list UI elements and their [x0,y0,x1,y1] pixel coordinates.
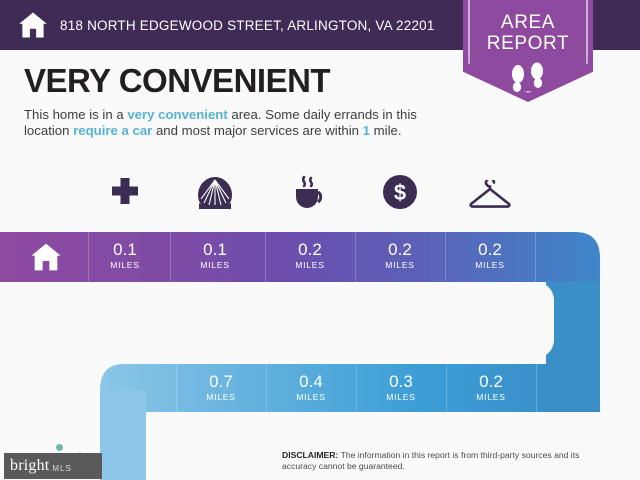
distance-value: 0.2 [445,240,535,259]
badge-title-line1: AREA [463,12,593,34]
distance-value: 0.3 [356,372,446,391]
distance-unit: MILES [266,392,356,402]
distance-pharmacy: 0.4 MILES [266,372,356,402]
distance-value: 0.1 [170,240,260,259]
distance-value: 0.2 [446,372,536,391]
distance-medical: 0.1 MILES [80,240,170,270]
segment-divider [535,232,536,282]
distance-gas: 0.1 MILES [170,240,260,270]
distance-unit: MILES [170,260,260,270]
brightmls-logo: bright MLS [4,453,102,479]
distance-unit: MILES [265,260,355,270]
badge-title-line2: REPORT [463,33,593,55]
brightmls-logo-main: bright [10,457,49,475]
row2-white-card [20,282,554,358]
distance-gym: 0.2 MILES [446,372,536,402]
distance-atm: 0.2 MILES [355,240,445,270]
brightmls-dot-icon [56,444,63,451]
distance-groceries: 0.3 MILES [356,372,446,402]
distance-value: 0.2 [355,240,445,259]
distance-unit: MILES [445,260,535,270]
distance-value: 0.4 [266,372,356,391]
distance-unit: MILES [446,392,536,402]
distance-value: 0.1 [80,240,170,259]
area-report-page: 818 NORTH EDGEWOOD STREET, ARLINGTON, VA… [0,0,640,480]
brightmls-logo-sub: MLS [52,464,71,473]
distance-movie-theater: 0.7 MILES [176,372,266,402]
distance-coffee: 0.2 MILES [265,240,355,270]
distance-cleaners: 0.2 MILES [445,240,535,270]
distance-unit: MILES [176,392,266,402]
distance-value: 0.2 [265,240,355,259]
disclaimer-label: DISCLAIMER: [282,450,338,460]
distance-unit: MILES [356,392,446,402]
distance-unit: MILES [80,260,170,270]
footprints-icon [504,62,552,94]
segment-divider [536,364,537,412]
disclaimer: DISCLAIMER: The information in this repo… [282,450,612,472]
home-icon [30,241,62,273]
distance-unit: MILES [355,260,445,270]
distance-value: 0.7 [176,372,266,391]
